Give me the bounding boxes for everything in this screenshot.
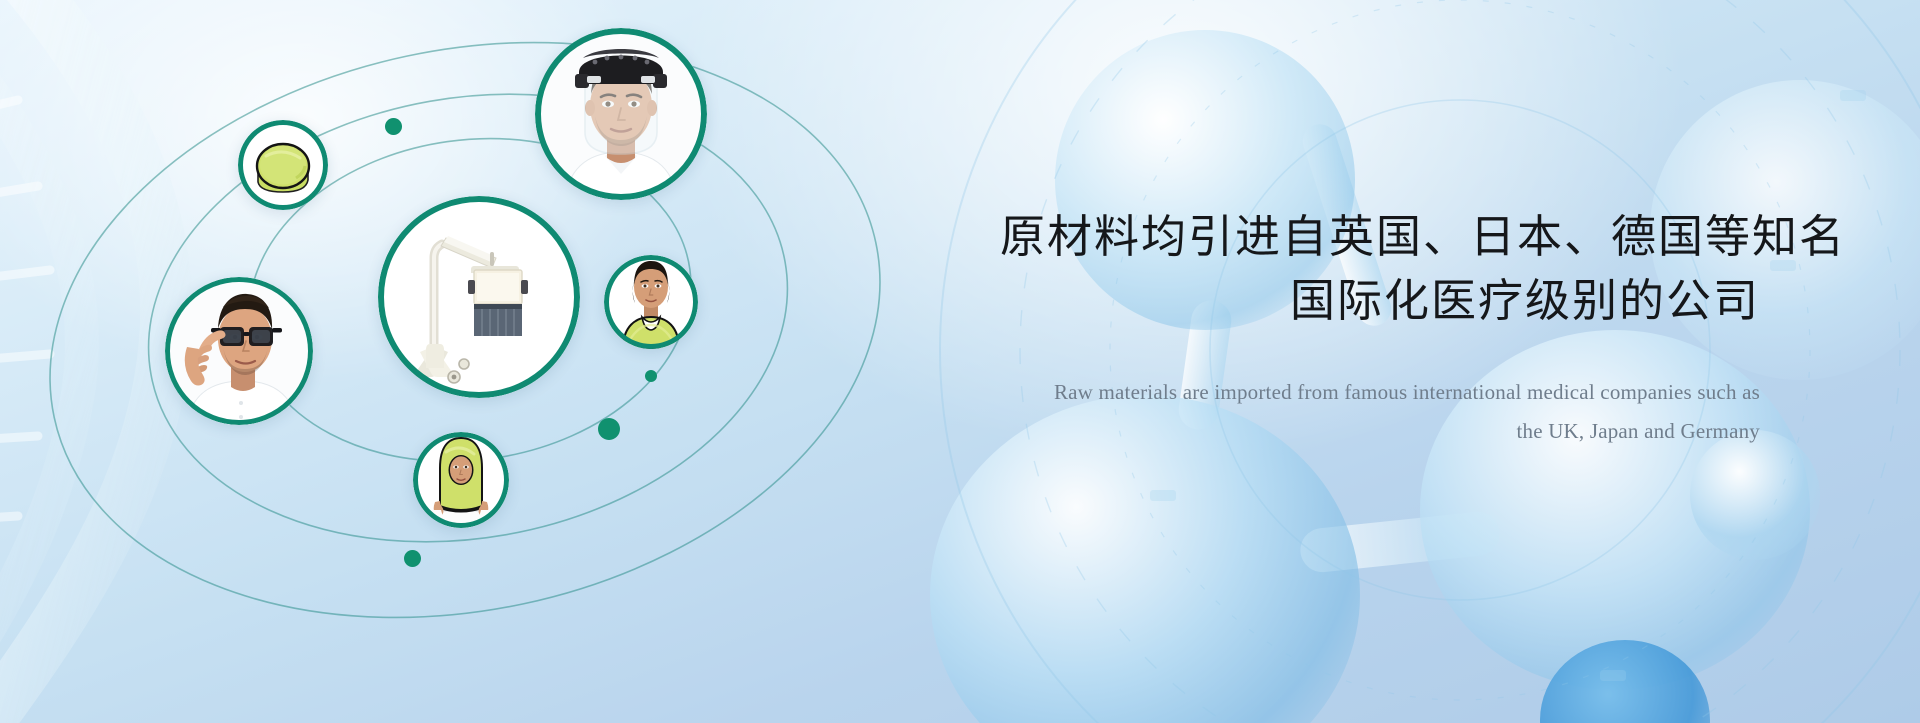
bubble-lead-protective-cap[interactable] (238, 120, 328, 210)
lead-hood-illustration (413, 432, 509, 528)
headline: 原材料均引进自英国、日本、德国等知名 国际化医疗级别的公司 (1000, 205, 1760, 333)
subheadline-line-2: the UK, Japan and Germany (1000, 412, 1760, 451)
lead-cap-illustration (238, 120, 328, 210)
subheadline: Raw materials are imported from famous i… (1000, 373, 1760, 451)
thyroid-collar-illustration (604, 255, 698, 349)
bubble-image-lead-glasses (165, 277, 313, 425)
bubble-thyroid-collar[interactable] (604, 255, 698, 349)
headline-line-2: 国际化医疗级别的公司 (1000, 269, 1760, 333)
bubble-radiation-face-shield[interactable] (535, 28, 707, 200)
molecule-sphere-6 (1540, 640, 1710, 723)
xray-barrier-illustration (378, 196, 580, 398)
lead-glasses-illustration (165, 277, 313, 425)
bubble-image-xray-barrier (378, 196, 580, 398)
bubble-image-lead-cap (238, 120, 328, 210)
molecule-bond-2 (1298, 510, 1502, 575)
hero-banner: 原材料均引进自英国、日本、德国等知名 国际化医疗级别的公司 Raw materi… (0, 0, 1920, 723)
hero-copy: 原材料均引进自英国、日本、德国等知名 国际化医疗级别的公司 Raw materi… (1000, 205, 1760, 450)
headline-line-1: 原材料均引进自英国、日本、德国等知名 (1000, 211, 1846, 262)
bubble-image-lead-hood (413, 432, 509, 528)
bubble-image-thyroid-collar (604, 255, 698, 349)
face-shield-illustration (535, 28, 707, 200)
subheadline-line-1: Raw materials are imported from famous i… (1054, 380, 1760, 404)
bubble-lead-protective-hood[interactable] (413, 432, 509, 528)
bubble-image-face-shield (535, 28, 707, 200)
bubble-lead-protective-glasses[interactable] (165, 277, 313, 425)
bubble-mobile-xray-barrier[interactable] (378, 196, 580, 398)
